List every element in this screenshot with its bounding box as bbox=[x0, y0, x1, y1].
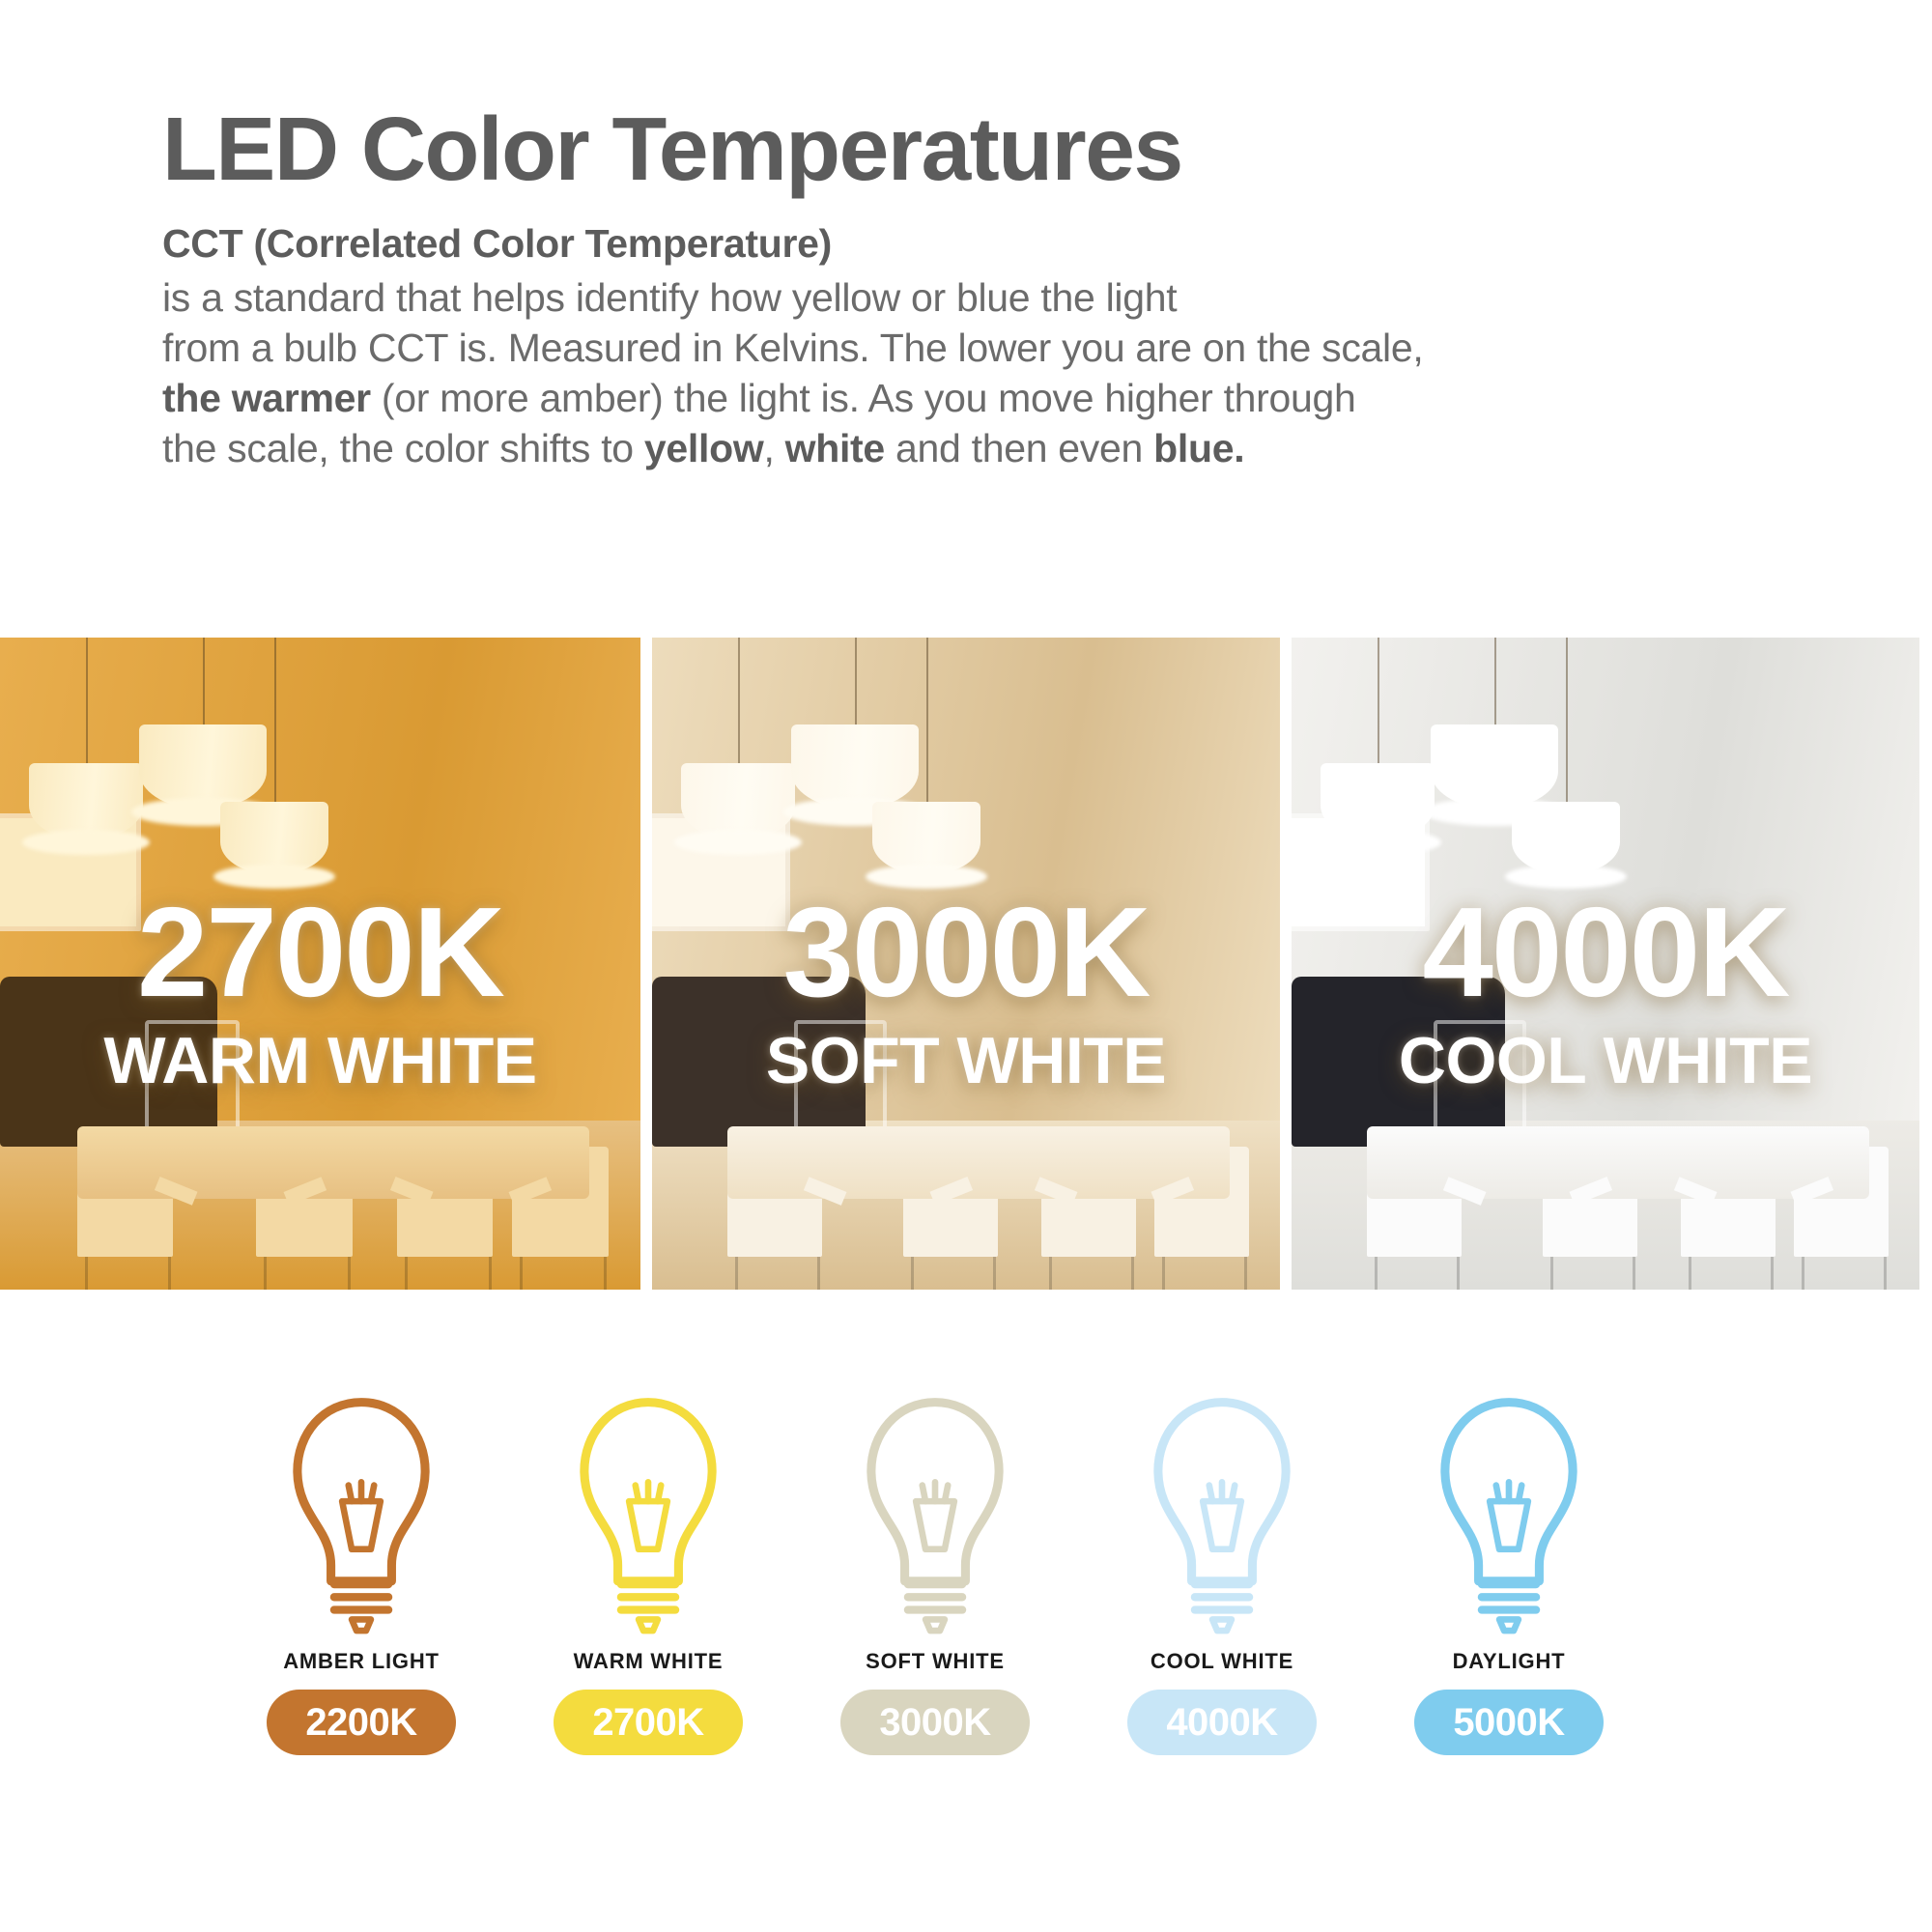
light-bulb-icon bbox=[843, 1396, 1027, 1635]
sofa bbox=[652, 977, 866, 1147]
bulb-scale-item[interactable]: COOL WHITE4000K bbox=[1120, 1396, 1324, 1802]
header-subtitle: CCT (Correlated Color Temperature) bbox=[162, 221, 1804, 267]
lamp-cord bbox=[926, 638, 928, 802]
kelvin-pill[interactable]: 2200K bbox=[267, 1690, 456, 1755]
lamp-cord bbox=[274, 638, 276, 802]
body-text: (or more amber) the light is. As you mov… bbox=[371, 376, 1356, 420]
emphasis-text: the warmer bbox=[162, 376, 371, 420]
bulb-scale-item[interactable]: SOFT WHITE3000K bbox=[833, 1396, 1037, 1802]
emphasis-text: white bbox=[785, 426, 885, 470]
header-section: LED Color Temperatures CCT (Correlated C… bbox=[162, 104, 1804, 473]
lamp-cord bbox=[203, 638, 205, 724]
dining-table bbox=[727, 1126, 1230, 1198]
pendant-lamp bbox=[681, 763, 795, 838]
sofa bbox=[0, 977, 217, 1147]
lamp-cord bbox=[738, 638, 740, 763]
paragraph-line: the scale, the color shifts to yellow, w… bbox=[162, 423, 1804, 473]
pendant-lamp bbox=[872, 802, 980, 873]
light-bulb-icon bbox=[1417, 1396, 1601, 1635]
photo-comparison-strip: 2700KWARM WHITE3000KSOFT WHITE4000KCOOL … bbox=[0, 638, 1932, 1290]
room-photo-panel: 4000KCOOL WHITE bbox=[1292, 638, 1919, 1290]
lamp-cord bbox=[1566, 638, 1568, 802]
sofa bbox=[1292, 977, 1505, 1147]
paragraph-line: from a bulb CCT is. Measured in Kelvins.… bbox=[162, 323, 1804, 373]
kelvin-pill[interactable]: 3000K bbox=[840, 1690, 1030, 1755]
bulb-label: SOFT WHITE bbox=[866, 1649, 1005, 1674]
panel-divider bbox=[640, 638, 652, 1290]
room-photo-panel: 3000KSOFT WHITE bbox=[652, 638, 1280, 1290]
lamp-glow bbox=[1314, 830, 1441, 856]
kelvin-pill[interactable]: 5000K bbox=[1414, 1690, 1604, 1755]
bulb-label: COOL WHITE bbox=[1151, 1649, 1293, 1674]
dining-table bbox=[1367, 1126, 1869, 1198]
body-text: from a bulb CCT is. Measured in Kelvins.… bbox=[162, 326, 1423, 370]
pendant-lamp bbox=[1321, 763, 1435, 838]
body-text: , bbox=[763, 426, 784, 470]
panel-divider bbox=[1280, 638, 1292, 1290]
lamp-cord bbox=[1494, 638, 1496, 724]
body-text: the scale, the color shifts to bbox=[162, 426, 644, 470]
lamp-cord bbox=[1378, 638, 1379, 763]
kelvin-pill[interactable]: 2700K bbox=[554, 1690, 743, 1755]
light-bulb-icon bbox=[270, 1396, 453, 1635]
paragraph-line: is a standard that helps identify how ye… bbox=[162, 272, 1804, 323]
pendant-lamp bbox=[29, 763, 143, 838]
lamp-glow bbox=[1505, 865, 1626, 889]
emphasis-text: blue. bbox=[1153, 426, 1244, 470]
bulb-label: DAYLIGHT bbox=[1453, 1649, 1566, 1674]
light-bulb-icon bbox=[556, 1396, 740, 1635]
header-paragraph: is a standard that helps identify how ye… bbox=[162, 272, 1804, 473]
bulb-temperature-scale: AMBER LIGHT2200KWARM WHITE2700KSOFT WHIT… bbox=[259, 1396, 1611, 1802]
bulb-scale-item[interactable]: WARM WHITE2700K bbox=[546, 1396, 751, 1802]
pendant-lamp bbox=[791, 724, 919, 808]
pendant-lamp bbox=[220, 802, 328, 873]
page-title: LED Color Temperatures bbox=[162, 104, 1804, 194]
lamp-glow bbox=[213, 865, 334, 889]
lamp-glow bbox=[866, 865, 986, 889]
bulb-scale-item[interactable]: DAYLIGHT5000K bbox=[1406, 1396, 1611, 1802]
paragraph-line: the warmer (or more amber) the light is.… bbox=[162, 373, 1804, 423]
emphasis-text: yellow bbox=[644, 426, 764, 470]
lamp-glow bbox=[22, 830, 150, 856]
pendant-lamp bbox=[1431, 724, 1558, 808]
pendant-lamp bbox=[139, 724, 267, 808]
kelvin-pill[interactable]: 4000K bbox=[1127, 1690, 1317, 1755]
dining-table bbox=[77, 1126, 589, 1198]
body-text: is a standard that helps identify how ye… bbox=[162, 275, 1177, 320]
bulb-label: WARM WHITE bbox=[574, 1649, 724, 1674]
room-photo-panel: 2700KWARM WHITE bbox=[0, 638, 640, 1290]
lamp-cord bbox=[86, 638, 88, 763]
pendant-lamp bbox=[1512, 802, 1620, 873]
lamp-glow bbox=[674, 830, 802, 856]
lamp-cord bbox=[855, 638, 857, 724]
body-text: and then even bbox=[885, 426, 1153, 470]
bulb-label: AMBER LIGHT bbox=[283, 1649, 440, 1674]
light-bulb-icon bbox=[1130, 1396, 1314, 1635]
bulb-scale-item[interactable]: AMBER LIGHT2200K bbox=[259, 1396, 464, 1802]
